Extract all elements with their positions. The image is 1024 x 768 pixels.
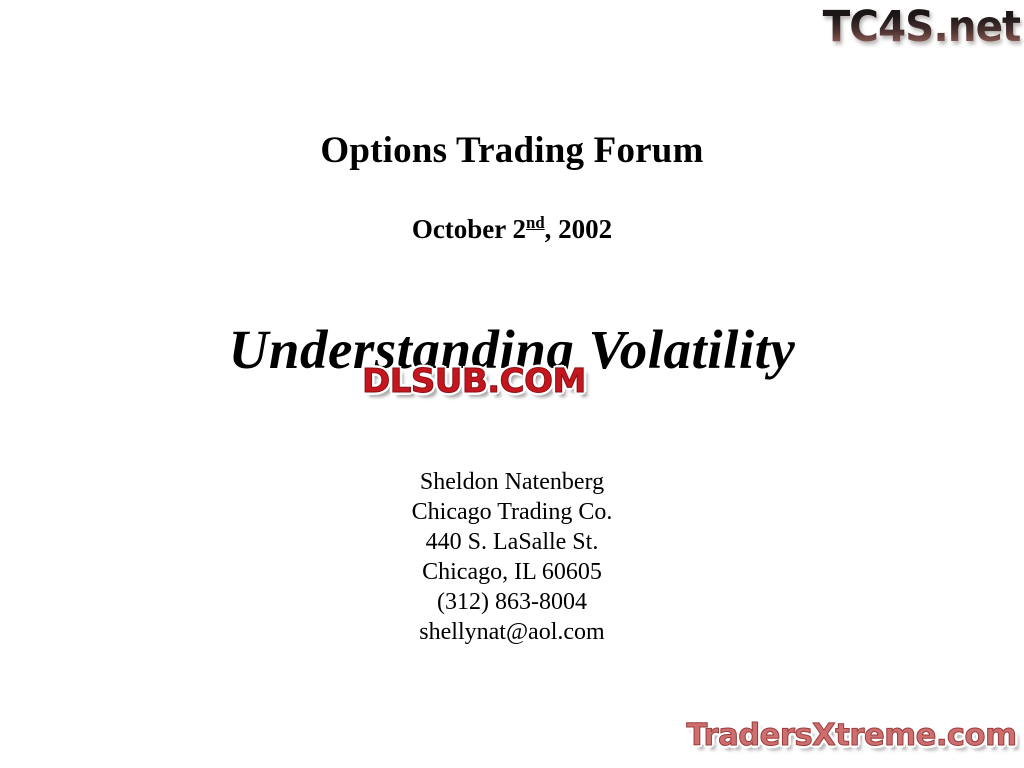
dlsub-watermark: DLSUB.COM <box>362 362 586 400</box>
slide-date: October 2nd, 2002 <box>0 212 1024 246</box>
date-year: , 2002 <box>545 214 613 244</box>
contact-line-company: Chicago Trading Co. <box>0 497 1024 527</box>
presentation-slide: TC4S.net Options Trading Forum October 2… <box>0 0 1024 768</box>
date-ordinal-suffix: nd <box>526 213 545 232</box>
tradersxtreme-watermark: TradersXtreme.com <box>686 718 1016 754</box>
contact-line-email: shellynat@aol.com <box>0 617 1024 647</box>
contact-block: Sheldon Natenberg Chicago Trading Co. 44… <box>0 467 1024 647</box>
tc4s-watermark: TC4S.net <box>822 2 1020 52</box>
contact-line-phone: (312) 863-8004 <box>0 587 1024 617</box>
slide-headline: Options Trading Forum <box>0 129 1024 173</box>
contact-line-name: Sheldon Natenberg <box>0 467 1024 497</box>
contact-line-street: 440 S. LaSalle St. <box>0 527 1024 557</box>
date-month-day: October 2 <box>412 214 526 244</box>
contact-line-city: Chicago, IL 60605 <box>0 557 1024 587</box>
